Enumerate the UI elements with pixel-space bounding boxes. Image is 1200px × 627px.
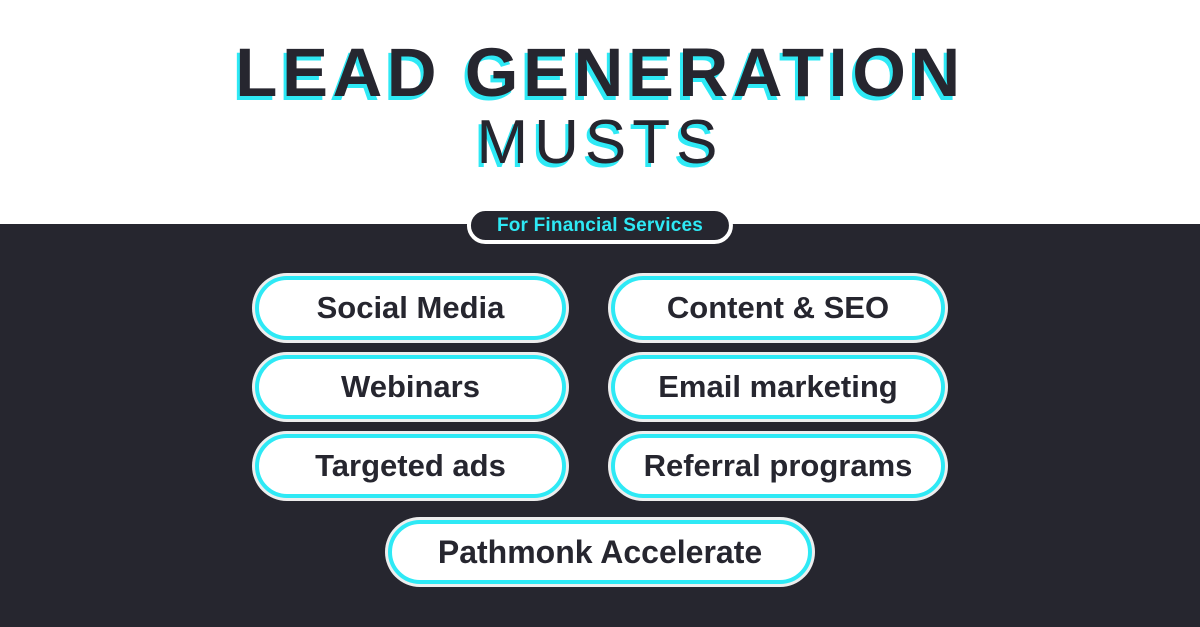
badge-label: For Financial Services [497, 215, 703, 237]
title-line-secondary: MUSTS [0, 110, 1200, 176]
pill-label: Social Media [317, 291, 505, 325]
pill-social-media[interactable]: Social Media [255, 276, 566, 340]
pill-row-2: Webinars Email marketing [0, 355, 1200, 419]
pill-row-4: Pathmonk Accelerate [0, 520, 1200, 584]
page-title: LEAD GENERATION MUSTS [0, 38, 1200, 176]
pill-referral-programs[interactable]: Referral programs [611, 434, 945, 498]
pill-label: Content & SEO [667, 291, 889, 325]
pill-label: Referral programs [644, 449, 913, 483]
pill-row-3: Targeted ads Referral programs [0, 434, 1200, 498]
pill-label: Email marketing [658, 370, 897, 404]
pill-content-seo[interactable]: Content & SEO [611, 276, 945, 340]
pill-row-1: Social Media Content & SEO [0, 276, 1200, 340]
poster-canvas: LEAD GENERATION MUSTS For Financial Serv… [0, 0, 1200, 627]
pill-webinars[interactable]: Webinars [255, 355, 566, 419]
pill-label: Pathmonk Accelerate [438, 535, 762, 569]
pill-label: Targeted ads [315, 449, 506, 483]
pill-email-marketing[interactable]: Email marketing [611, 355, 945, 419]
status-badge: For Financial Services [467, 207, 733, 244]
pill-pathmonk-accelerate[interactable]: Pathmonk Accelerate [388, 520, 812, 584]
pill-targeted-ads[interactable]: Targeted ads [255, 434, 566, 498]
title-line-primary: LEAD GENERATION [0, 38, 1200, 108]
pill-label: Webinars [341, 370, 480, 404]
pill-grid: Social Media Content & SEO Webinars Emai… [0, 276, 1200, 584]
